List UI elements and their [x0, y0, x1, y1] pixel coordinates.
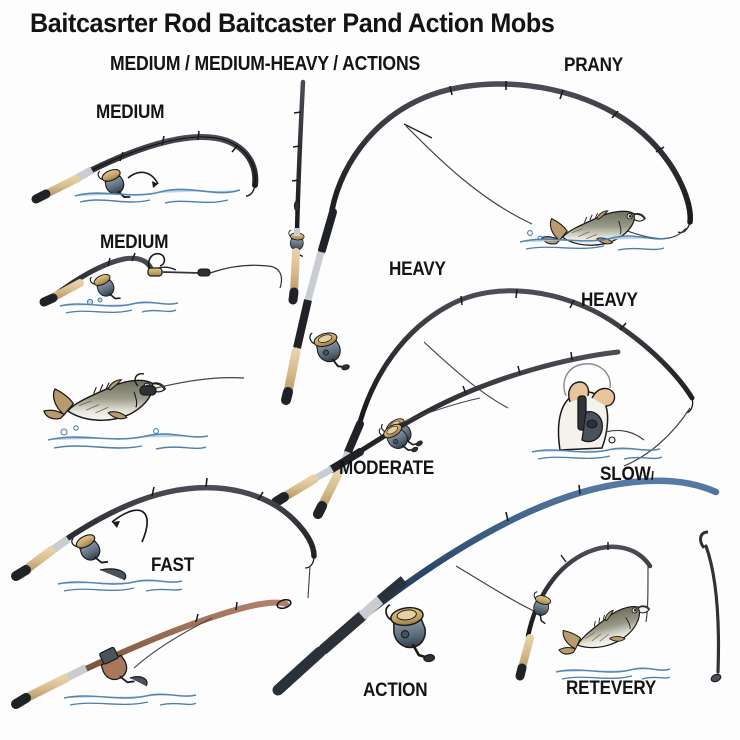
- figure-rod-medium-lure: [44, 253, 282, 313]
- figure-rod-retrieve-fish: [520, 532, 722, 683]
- page-subtitle: MEDIUM / MEDIUM-HEAVY / ACTIONS: [110, 53, 420, 76]
- label-medium-second: MEDIUM: [100, 232, 168, 254]
- label-prany: PRANY: [564, 55, 623, 77]
- label-retevery: RETEVERY: [566, 678, 656, 700]
- label-fast: FAST: [151, 555, 194, 577]
- figure-angler-slow: [532, 364, 662, 459]
- figure-fish-jumping-left: [44, 374, 244, 449]
- label-heavy-center: HEAVY: [389, 259, 446, 281]
- figure-rod-brown-straight: [16, 598, 292, 705]
- label-heavy-right: HEAVY: [581, 290, 638, 312]
- illustration-canvas: Baitcasrter Rod Baitcaster Pand Action M…: [0, 0, 740, 740]
- figure-rod-action-blue: [278, 471, 716, 690]
- page-title: Baitcasrter Rod Baitcaster Pand Action M…: [30, 8, 554, 39]
- label-action: ACTION: [363, 680, 427, 702]
- label-medium-top: MEDIUM: [96, 102, 164, 124]
- label-slow: SLOW: [600, 464, 651, 486]
- figure-rod-fast: [16, 478, 314, 598]
- figure-rod-medium-top: [36, 131, 255, 205]
- figure-rod-moderate: [276, 352, 618, 502]
- figure-rod-vertical: [287, 82, 304, 300]
- figure-rod-heavy-fish: [286, 81, 690, 400]
- label-moderate: MODERATE: [339, 458, 434, 480]
